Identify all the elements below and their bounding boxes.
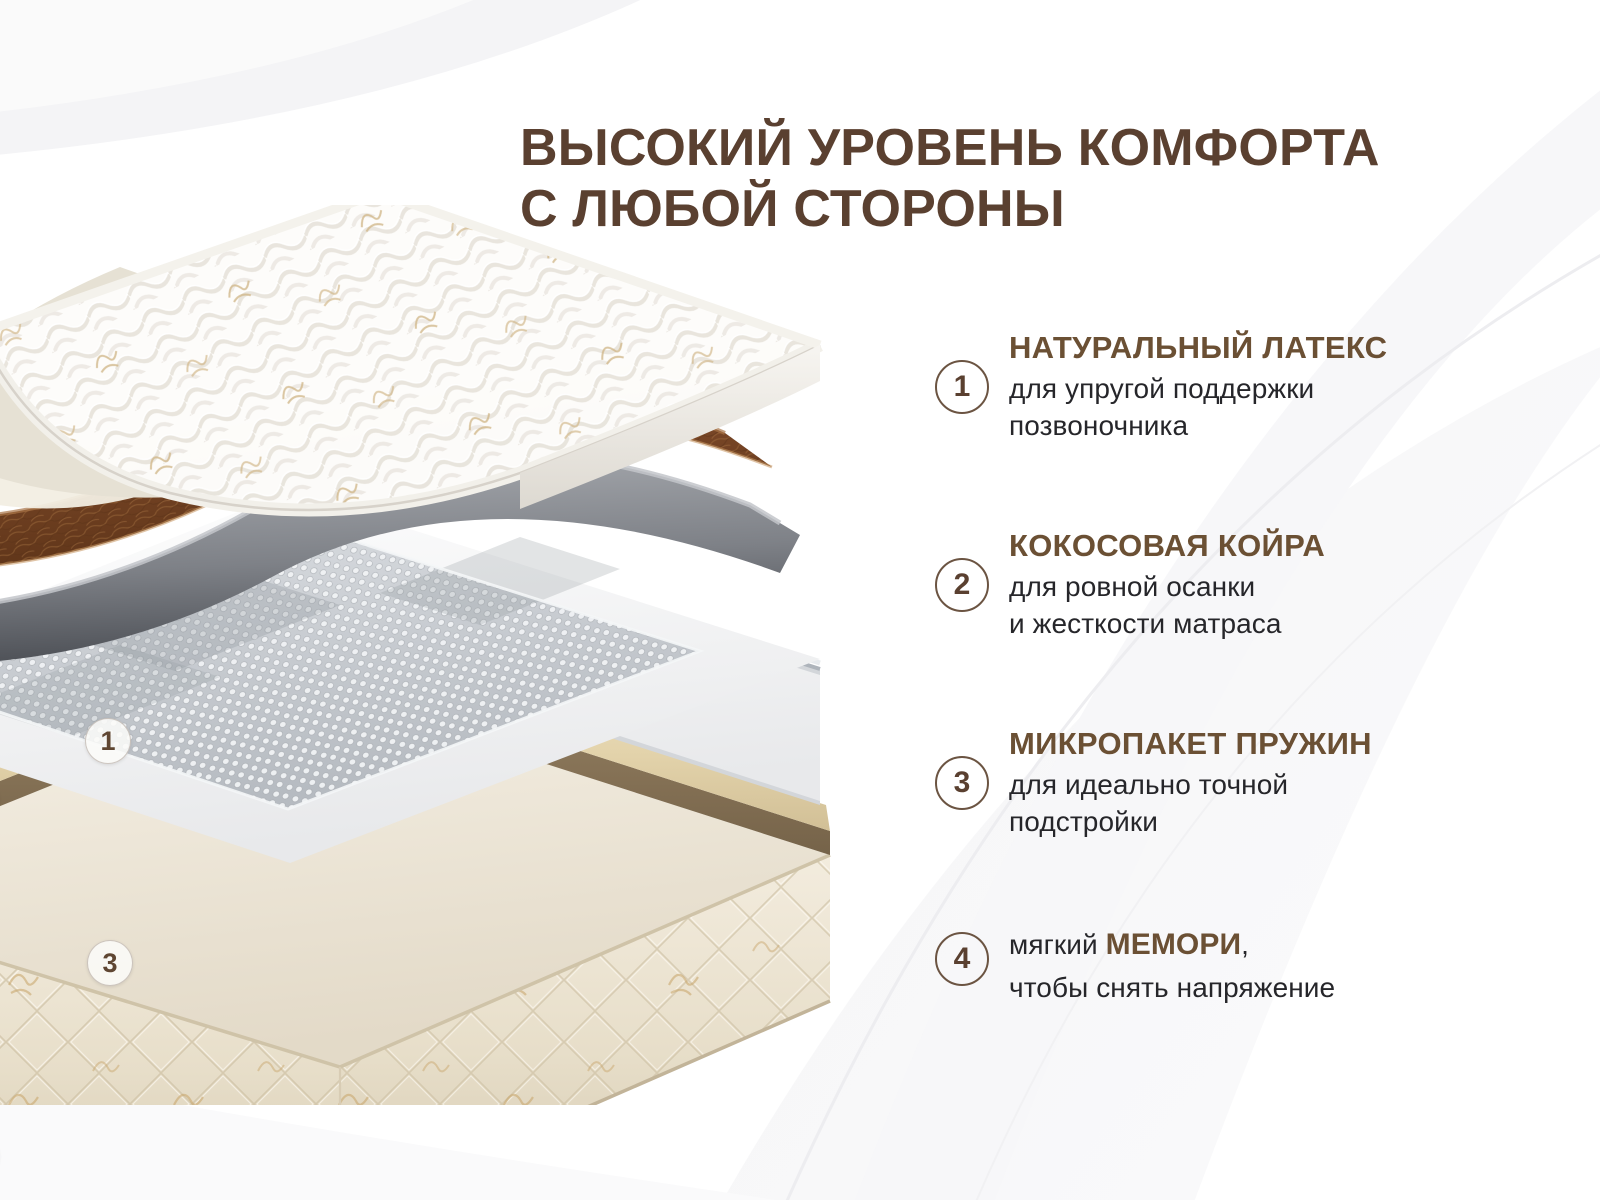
feature-item-4: 4 мягкий МЕМОРИ, чтобы снять напряжение	[935, 924, 1335, 1007]
feature-description-4: чтобы снять напряжение	[1009, 969, 1335, 1006]
feature-item-2: 2 КОКОСОВАЯ КОЙРА для ровной осанки и же…	[935, 528, 1325, 642]
feature-4-emphasis: МЕМОРИ	[1106, 928, 1242, 961]
feature-heading-4: мягкий МЕМОРИ,	[1009, 924, 1335, 965]
quilted-cover-top	[0, 205, 820, 510]
feature-heading-2: КОКОСОВАЯ КОЙРА	[1009, 528, 1325, 564]
feature-description-3: для идеально точной подстройки	[1009, 766, 1372, 840]
image-badge-1: 1	[85, 718, 131, 764]
mattress-cutaway-illustration: 1 2 3 4	[0, 205, 880, 1105]
feature-heading-3: МИКРОПАКЕТ ПРУЖИН	[1009, 726, 1372, 762]
feature-item-3: 3 МИКРОПАКЕТ ПРУЖИН для идеально точной …	[935, 726, 1372, 840]
image-badge-3: 3	[87, 940, 133, 986]
feature-4-comma: ,	[1241, 929, 1249, 960]
feature-description-1: для упругой поддержки позвоночника	[1009, 370, 1387, 444]
infographic-canvas: ВЫСОКИЙ УРОВЕНЬ КОМФОРТА С ЛЮБОЙ СТОРОНЫ	[0, 0, 1600, 1200]
feature-4-prefix: мягкий	[1009, 929, 1106, 960]
feature-number-1: 1	[935, 360, 989, 414]
feature-number-2: 2	[935, 558, 989, 612]
feature-description-2: для ровной осанки и жесткости матраса	[1009, 568, 1325, 642]
feature-heading-1: НАТУРАЛЬНЫЙ ЛАТЕКС	[1009, 330, 1387, 366]
feature-item-1: 1 НАТУРАЛЬНЫЙ ЛАТЕКС для упругой поддерж…	[935, 330, 1387, 444]
feature-number-4: 4	[935, 932, 989, 986]
feature-number-3: 3	[935, 756, 989, 810]
